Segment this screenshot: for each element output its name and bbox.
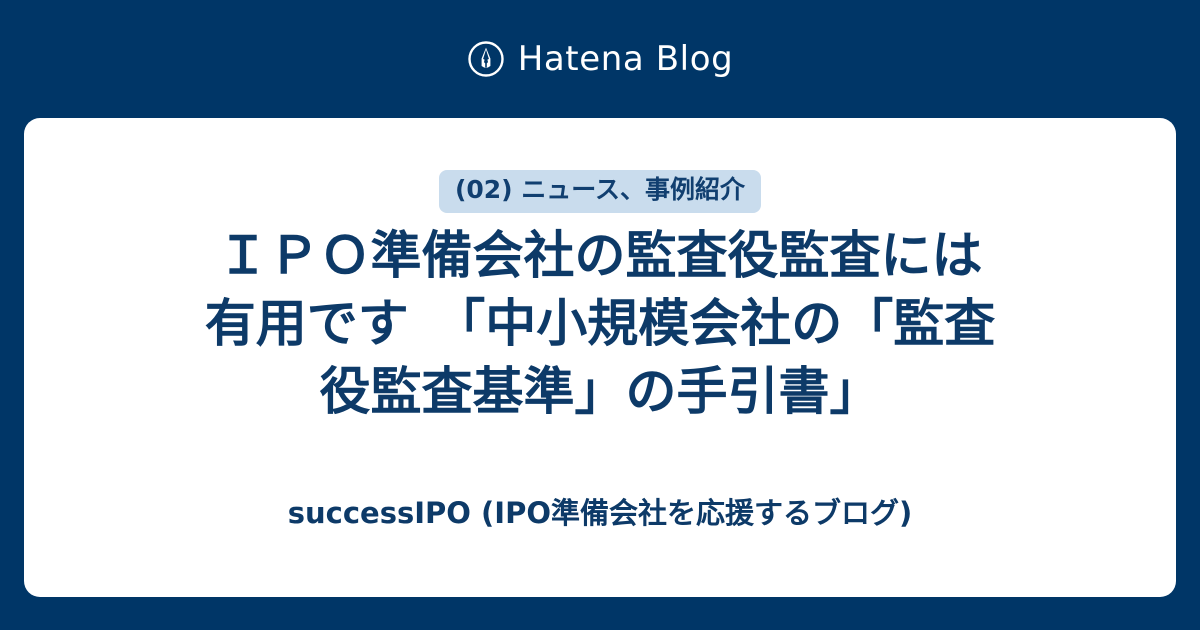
open-graph-card: Hatena Blog (02) ニュース、事例紹介 ＩＰＯ準備会社の監査役監査… bbox=[0, 0, 1200, 630]
brand-name: Hatena Blog bbox=[518, 42, 734, 76]
blog-name-container: successIPO (IPO準備会社を応援するブログ) bbox=[84, 495, 1116, 557]
brand-header: Hatena Blog bbox=[0, 0, 1200, 118]
blog-name[interactable]: successIPO (IPO準備会社を応援するブログ) bbox=[288, 495, 912, 531]
fountain-pen-nib-circle-icon bbox=[467, 40, 505, 78]
entry-title: ＩＰＯ準備会社の監査役監査には有用です 「中小規模会社の「監査役監査基準」の手引… bbox=[195, 223, 1005, 428]
entry-content-card: (02) ニュース、事例紹介 ＩＰＯ準備会社の監査役監査には有用です 「中小規模… bbox=[24, 118, 1176, 597]
category-badge[interactable]: (02) ニュース、事例紹介 bbox=[439, 170, 761, 213]
